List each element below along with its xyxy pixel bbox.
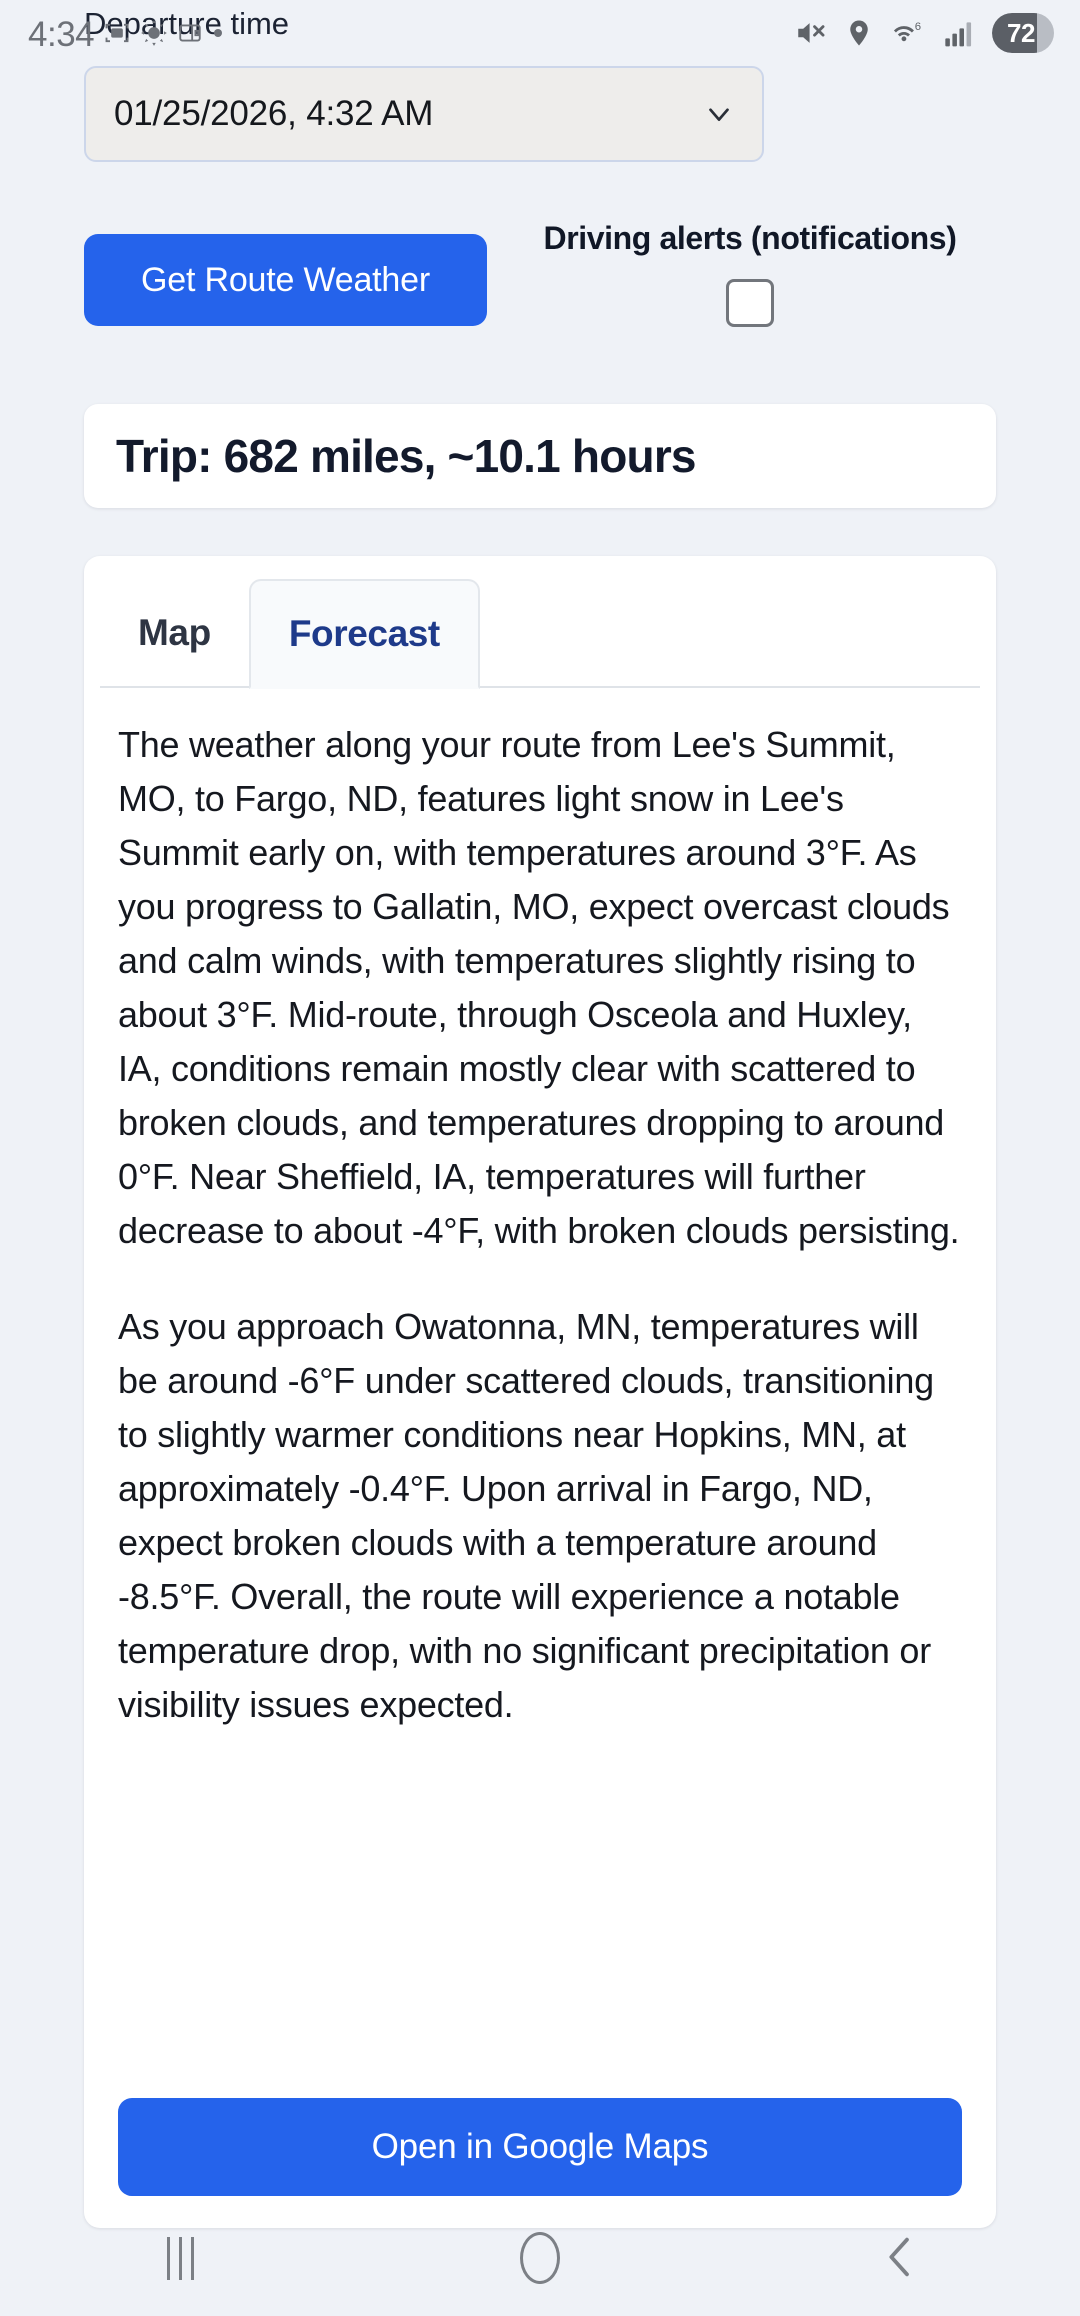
trip-summary-card: Trip: 682 miles, ~10.1 hours — [84, 404, 996, 508]
forecast-paragraph-1: The weather along your route from Lee's … — [118, 718, 962, 1258]
route-details-card: Map Forecast The weather along your rout… — [84, 556, 996, 2228]
open-in-google-maps-button[interactable]: Open in Google Maps — [118, 2098, 962, 2196]
android-navigation-bar — [0, 2200, 1080, 2316]
chevron-down-icon — [702, 97, 736, 131]
home-button[interactable] — [360, 2218, 720, 2298]
app-root: Departure time 01/25/2026, 4:32 AM Get R… — [0, 0, 1080, 2316]
tab-bar: Map Forecast — [84, 556, 996, 688]
tab-forecast[interactable]: Forecast — [249, 579, 480, 689]
get-route-weather-button[interactable]: Get Route Weather — [84, 234, 487, 326]
recents-button[interactable] — [0, 2218, 360, 2298]
trip-summary-text: Trip: 682 miles, ~10.1 hours — [116, 429, 696, 483]
back-icon — [878, 2231, 922, 2286]
forecast-paragraph-2: As you approach Owatonna, MN, temperatur… — [118, 1300, 962, 1732]
departure-time-select[interactable]: 01/25/2026, 4:32 AM — [84, 66, 764, 162]
driving-alerts-checkbox[interactable] — [726, 279, 774, 327]
departure-time-label: Departure time — [84, 8, 289, 39]
tab-map[interactable]: Map — [100, 578, 249, 688]
recents-icon — [167, 2237, 194, 2280]
driving-alerts-label: Driving alerts (notifications) — [544, 220, 957, 257]
departure-time-select-wrap[interactable]: 01/25/2026, 4:32 AM — [84, 66, 764, 162]
departure-time-value: 01/25/2026, 4:32 AM — [114, 94, 433, 134]
action-row: Get Route Weather Driving alerts (notifi… — [84, 234, 996, 344]
back-button[interactable] — [720, 2218, 1080, 2298]
home-icon — [520, 2232, 560, 2284]
driving-alerts-group: Driving alerts (notifications) — [504, 220, 996, 327]
forecast-panel: The weather along your route from Lee's … — [84, 688, 996, 1732]
